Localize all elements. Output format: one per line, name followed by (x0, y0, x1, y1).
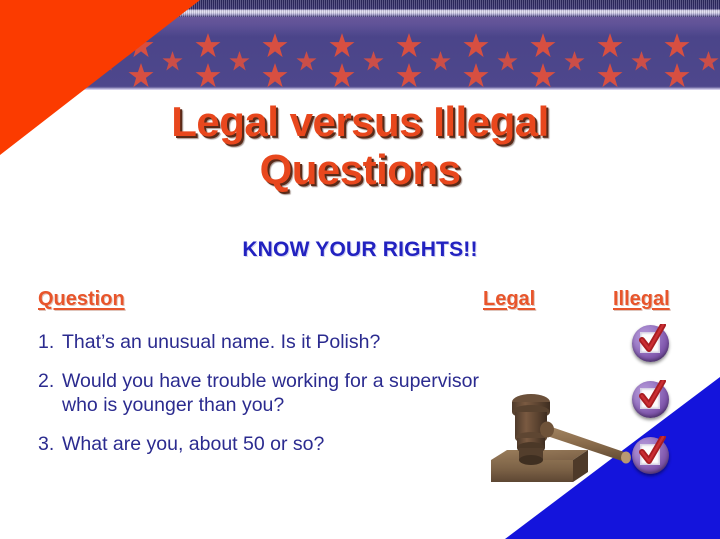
illegal-check-badge[interactable] (632, 437, 669, 474)
checkmark-icon (639, 380, 666, 410)
star-icon (329, 63, 355, 89)
checkmark-icon (639, 324, 666, 354)
question-list: 1. That’s an unusual name. Is it Polish?… (38, 330, 488, 470)
column-header-illegal: Illegal (613, 288, 670, 311)
page-title-line-1: Legal versus Illegal (0, 98, 720, 146)
list-item-number: 2. (38, 369, 62, 418)
list-item: 2. Would you have trouble working for a … (38, 369, 488, 418)
star-icon (463, 63, 489, 89)
illegal-check-badge[interactable] (632, 381, 669, 418)
star-icon (262, 63, 288, 89)
list-item-text: Would you have trouble working for a sup… (62, 369, 488, 418)
list-item-text: What are you, about 50 or so? (62, 432, 488, 457)
star-icon (664, 63, 690, 89)
list-item-number: 3. (38, 432, 62, 457)
column-header-legal: Legal (483, 288, 535, 311)
list-item: 3. What are you, about 50 or so? (38, 432, 488, 457)
star-icon (530, 63, 556, 89)
column-header-question: Question (38, 288, 125, 311)
list-item-number: 1. (38, 330, 62, 355)
star-icon (597, 63, 623, 89)
list-item: 1. That’s an unusual name. Is it Polish? (38, 330, 488, 355)
page-subtitle: KNOW YOUR RIGHTS!! (0, 238, 720, 262)
slide-canvas: Legal versus Illegal Questions KNOW YOUR… (0, 0, 720, 539)
gavel-icon (485, 380, 635, 492)
star-icon (396, 63, 422, 89)
checkmark-icon (639, 436, 666, 466)
illegal-check-badge[interactable] (632, 325, 669, 362)
page-title: Legal versus Illegal Questions (0, 98, 720, 194)
page-title-line-2: Questions (0, 146, 720, 194)
list-item-text: That’s an unusual name. Is it Polish? (62, 330, 488, 355)
